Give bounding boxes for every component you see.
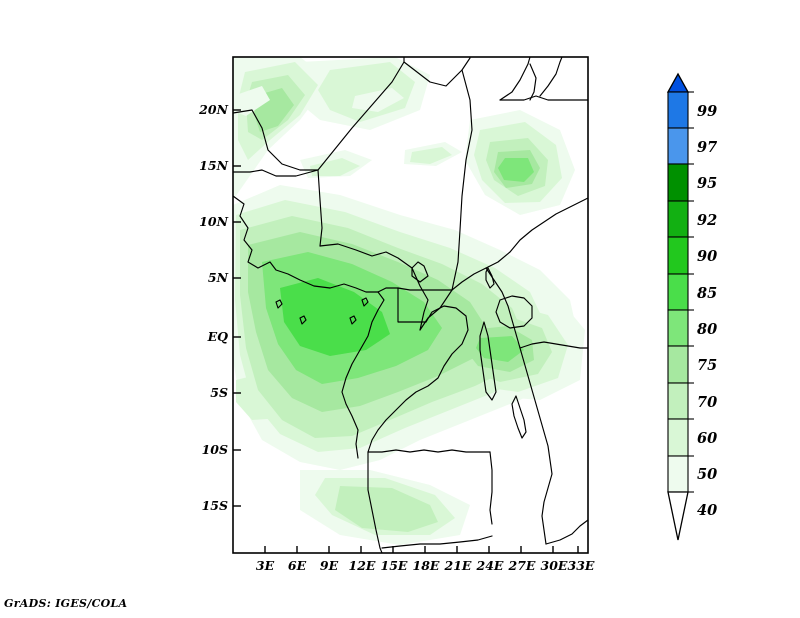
colorbar-band-80-85 [668,274,688,310]
x-tick-label: 33E [568,558,595,573]
colorbar-tick-label: 97 [697,139,717,156]
y-tick-label: 20N [198,102,228,117]
colorbar-band-97-99 [668,92,688,128]
colorbar-band-95-97 [668,128,688,164]
colorbar-band-70-75 [668,346,688,383]
colorbar-tick-label: 50 [697,466,717,483]
colorbar-band-85-90 [668,237,688,274]
y-tick-label: 5S [210,385,228,400]
x-tick-label: 24E [476,558,504,573]
y-tick-label: 5N [208,270,229,285]
y-tick-label: EQ [207,329,229,344]
colorbar-band-92-95 [668,164,688,201]
x-tick-label: 18E [413,558,440,573]
colorbar-tick-label: 40 [697,502,717,519]
grads-credit: GrADS: IGES/COLA [4,597,127,610]
colorbar-band-40-50 [668,456,688,492]
colorbar-band-90-92 [668,201,688,237]
chart-figure: 20N 15N 10N 5N EQ 5S 10S 15S 3E 6E 9E 12… [0,0,800,618]
colorbar-tick-label: 85 [697,285,717,302]
x-tick-label: 12E [349,558,376,573]
colorbar-tick-label: 75 [697,357,717,374]
x-tick-label: 21E [444,558,472,573]
chart-svg: 20N 15N 10N 5N EQ 5S 10S 15S 3E 6E 9E 12… [0,0,800,618]
y-tick-label: 10N [199,214,228,229]
colorbar-band-75-80 [668,310,688,346]
colorbar-tick-label: 99 [697,103,717,120]
y-tick-label: 15S [202,498,228,513]
colorbar-band-50-60 [668,419,688,456]
x-tick-label: 6E [288,558,307,573]
y-tick-label: 15N [199,158,228,173]
colorbar-tick-label: 95 [697,175,717,192]
x-tick-label: 30E [541,558,568,573]
colorbar-tick-label: 60 [697,430,717,447]
colorbar-band-60-70 [668,383,688,419]
colorbar-tick-label: 80 [697,321,717,338]
colorbar-tick-label: 92 [697,212,717,229]
x-tick-label: 15E [381,558,408,573]
x-tick-label: 9E [320,558,339,573]
humidity-field [233,57,588,553]
y-tick-label: 10S [202,442,228,457]
x-tick-label: 3E [256,558,275,573]
x-tick-label: 27E [508,558,536,573]
colorbar-tick-label: 90 [697,248,717,265]
colorbar-tick-label: 70 [697,394,717,411]
